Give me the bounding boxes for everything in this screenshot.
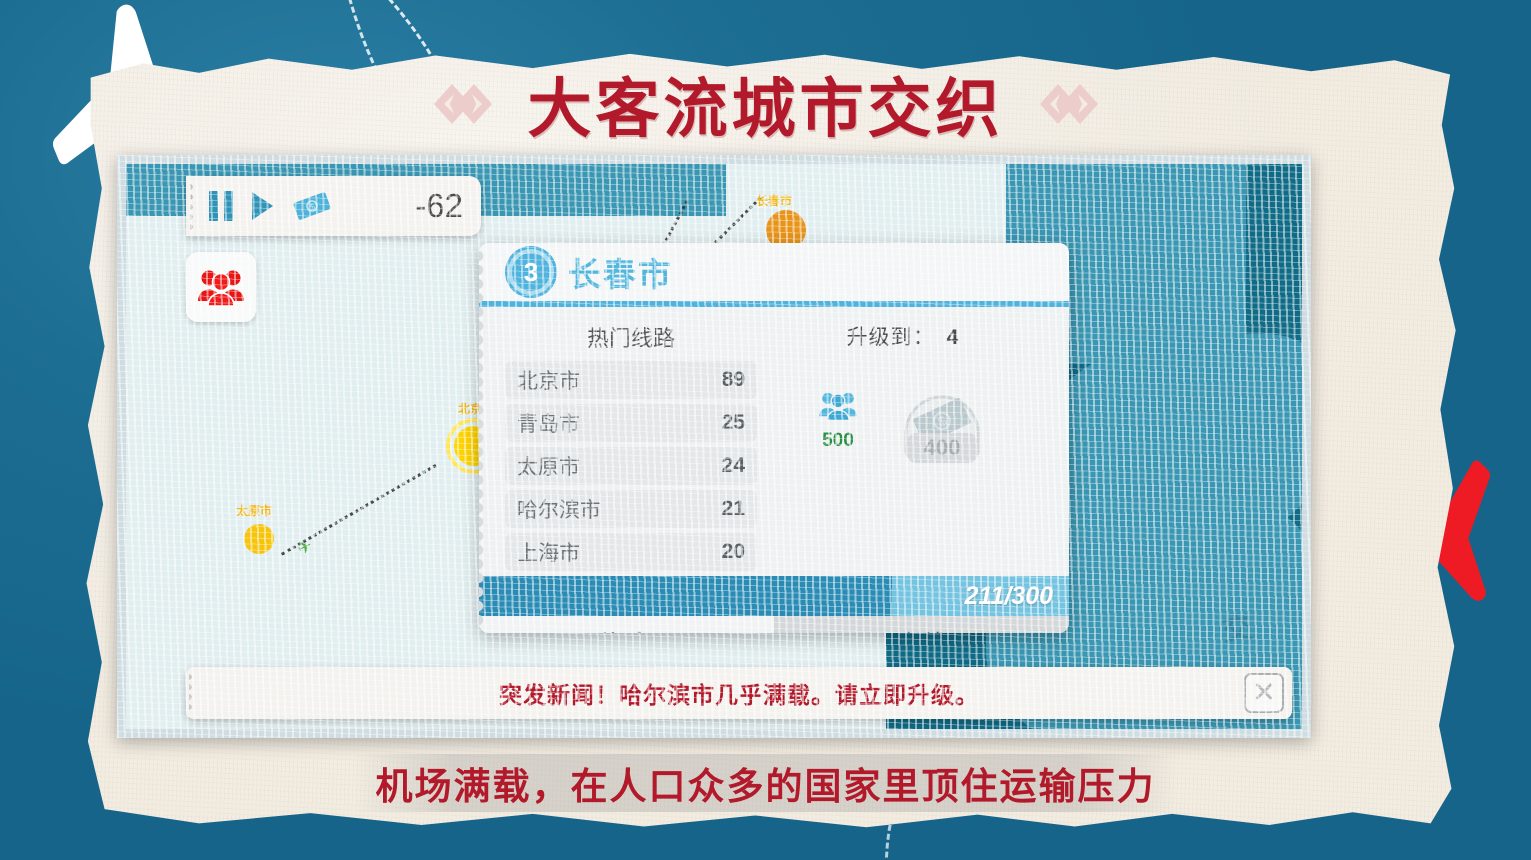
upgrade-label: 升级到：4 — [847, 321, 960, 351]
route-count: 24 — [722, 454, 745, 478]
promo-background: 大客流城市交织 交 ✈ — [0, 0, 1531, 860]
tab-info[interactable]: 信息 — [479, 616, 774, 633]
population-button[interactable] — [186, 252, 256, 322]
close-icon[interactable]: ✕ — [1244, 673, 1284, 713]
route-row[interactable]: 哈尔滨市 21 — [505, 490, 757, 528]
panel-city-name: 长春市 — [568, 248, 673, 296]
caption-wrap: 机场满载，在人口众多的国家里顶住运输压力 — [0, 754, 1531, 812]
headline-row: 大客流城市交织 — [0, 58, 1531, 150]
route-count: 21 — [722, 497, 745, 521]
diamond-ornament-icon — [1038, 82, 1100, 126]
city-label: 长春市 — [756, 192, 792, 209]
capacity-progress-bar: 211/300 — [479, 576, 1069, 616]
hud-control-bar[interactable]: $ -62 — [186, 176, 481, 236]
people-group-icon — [816, 389, 860, 423]
progress-text: 211/300 — [964, 582, 1053, 611]
news-text: 突发新闻！哈尔滨市几乎满载。请立即升级。 — [499, 676, 979, 710]
tab-routes[interactable]: 路线 — [774, 616, 1069, 633]
upgrade-section: 升级到：4 — [757, 315, 1049, 576]
land-label: 交 — [1219, 602, 1255, 650]
route-city: 北京市 — [517, 365, 580, 395]
city-info-panel[interactable]: 3 长春市 热门线路 北京市 89 青岛市 25 — [479, 243, 1069, 633]
promo-caption: 机场满载，在人口众多的国家里顶住运输压力 — [354, 754, 1178, 812]
route-row[interactable]: 太原市 24 — [505, 447, 757, 485]
news-ticker-bar: 突发新闻！哈尔滨市几乎满载。请立即升级。 ✕ — [186, 667, 1292, 719]
pause-icon[interactable] — [208, 191, 234, 221]
capacity-block: 500 — [816, 371, 860, 452]
level-badge: 3 — [508, 249, 554, 295]
upgrade-label-text: 升级到： — [847, 326, 935, 349]
panel-tabs: 信息 路线 — [479, 616, 1069, 633]
route-city: 青岛市 — [517, 408, 580, 438]
route-count: 89 — [722, 368, 745, 392]
diamond-ornament-icon — [432, 82, 494, 126]
panel-header: 3 长春市 — [479, 243, 1069, 307]
game-screen-frame: 交 ✈ 长春市 北京市 — [117, 155, 1311, 738]
people-group-icon — [197, 267, 245, 307]
panel-body: 热门线路 北京市 89 青岛市 25 太原市 24 — [479, 307, 1069, 576]
upgrade-button[interactable]: $ 400 — [894, 371, 990, 467]
upgrade-row: 500 $ — [816, 371, 990, 467]
route-count: 25 — [722, 411, 745, 435]
game-screen[interactable]: 交 ✈ 长春市 北京市 — [126, 164, 1302, 729]
route-count: 20 — [722, 540, 745, 564]
page-title: 大客流城市交织 — [528, 58, 1004, 150]
money-value: -62 — [415, 187, 463, 225]
popular-routes-list: 热门线路 北京市 89 青岛市 25 太原市 24 — [505, 315, 757, 576]
play-icon[interactable] — [250, 191, 275, 221]
city-dot — [244, 524, 274, 554]
route-row[interactable]: 青岛市 25 — [505, 404, 757, 442]
capacity-value: 500 — [816, 430, 860, 452]
route-city: 上海市 — [517, 537, 580, 567]
upgrade-cost: 400 — [908, 433, 977, 463]
route-city: 太原市 — [517, 451, 580, 481]
route-row[interactable]: 北京市 89 — [505, 361, 757, 399]
route-row[interactable]: 上海市 20 — [505, 533, 757, 571]
progress-fill — [479, 576, 892, 616]
city-label: 太原市 — [236, 502, 272, 519]
banknote-icon: $ — [291, 191, 333, 221]
route-city: 哈尔滨市 — [517, 494, 601, 524]
routes-title: 热门线路 — [505, 321, 757, 353]
upgrade-target-level: 4 — [947, 326, 960, 349]
